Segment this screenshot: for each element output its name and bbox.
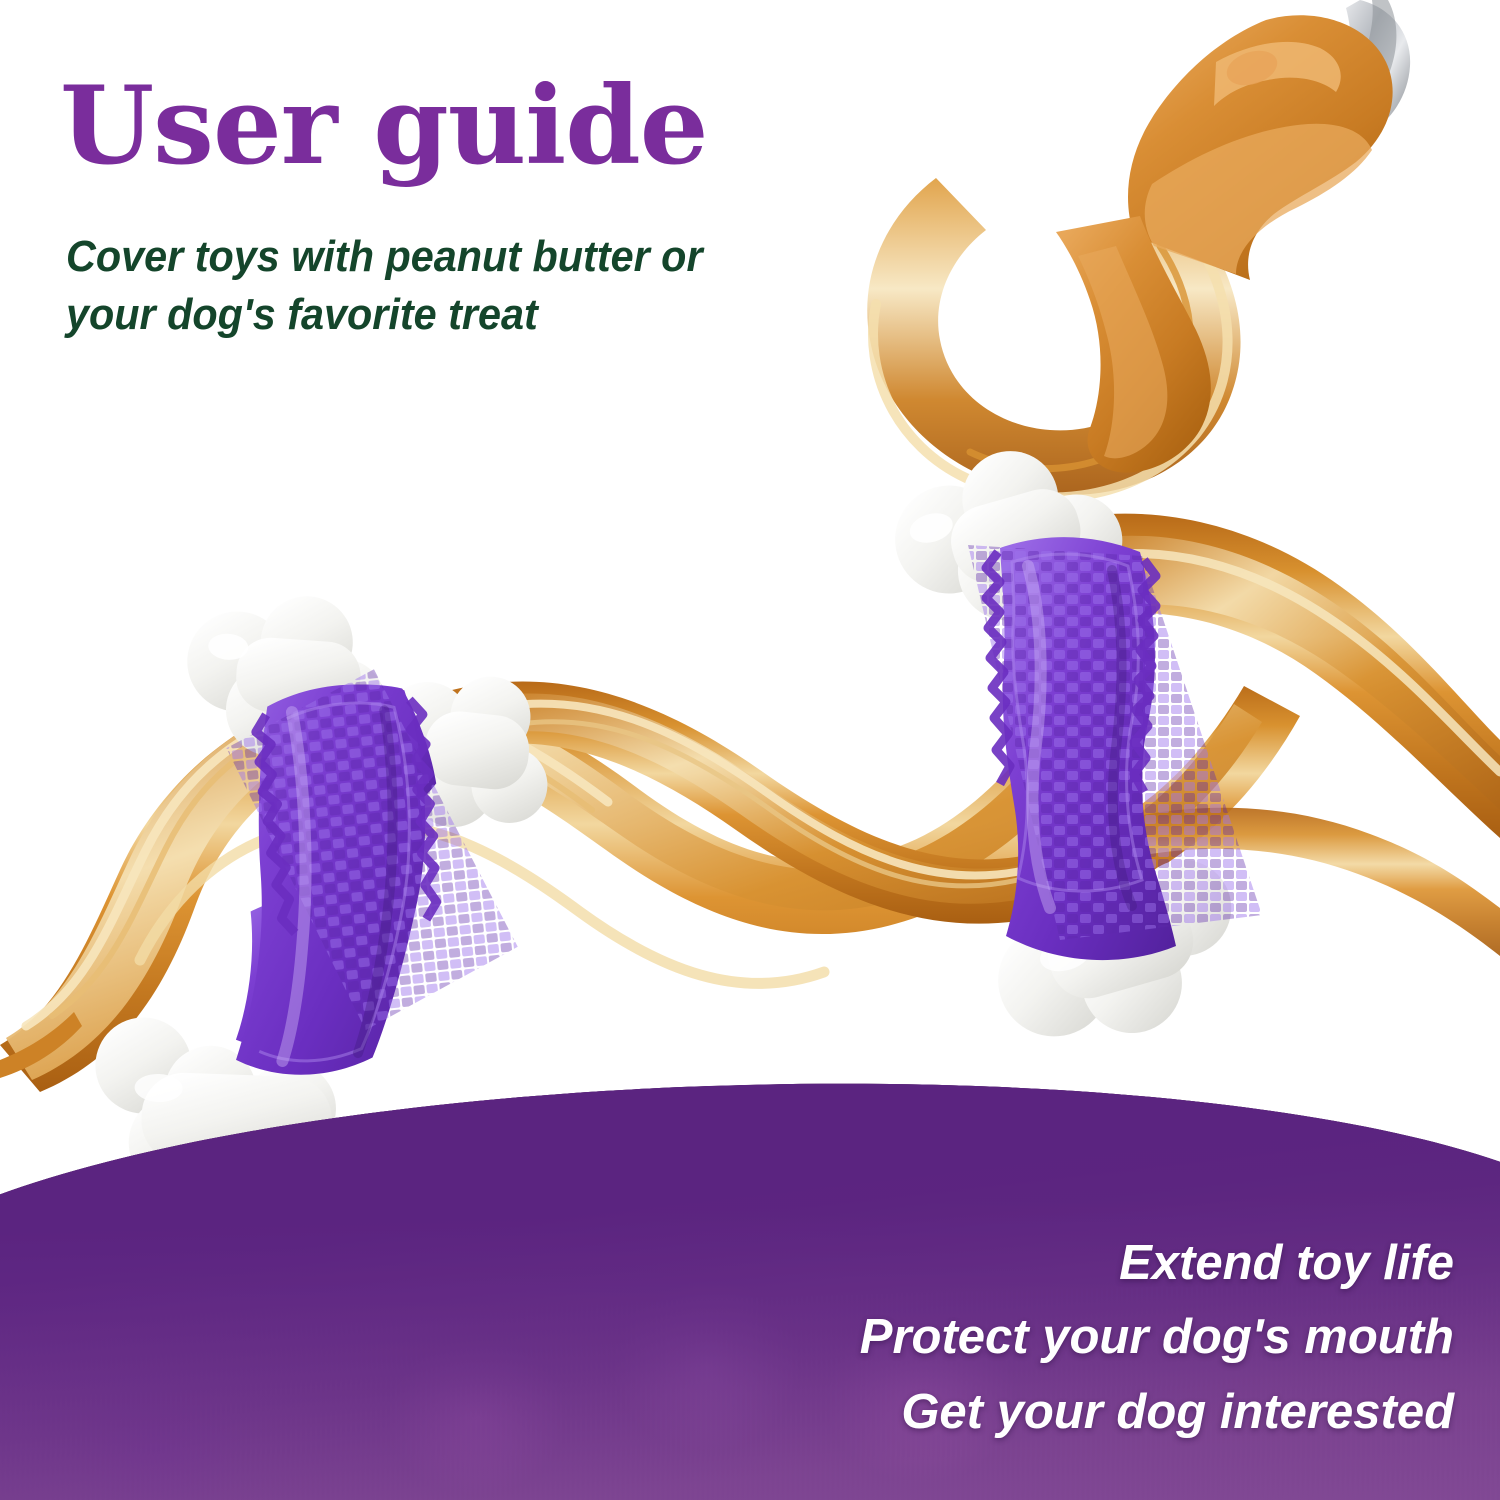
page-subtitle: Cover toys with peanut butter or your do… bbox=[66, 228, 893, 344]
benefit-protect-mouth: Protect your dog's mouth bbox=[860, 1300, 1454, 1374]
benefit-get-dog-interested: Get your dog interested bbox=[860, 1375, 1454, 1449]
benefits-list: Extend toy life Protect your dog's mouth… bbox=[860, 1226, 1454, 1449]
subtitle-line-1: Cover toys with peanut butter or bbox=[66, 228, 893, 286]
benefit-extend-toy-life: Extend toy life bbox=[860, 1226, 1454, 1300]
page-title: User guide bbox=[60, 72, 708, 180]
peanut-butter-spoon bbox=[1056, 0, 1410, 473]
bone-toy-right bbox=[878, 426, 1300, 1067]
product-infographic: Extend toy life Protect your dog's mouth… bbox=[0, 0, 1500, 1500]
subtitle-line-2: your dog's favorite treat bbox=[66, 286, 893, 344]
